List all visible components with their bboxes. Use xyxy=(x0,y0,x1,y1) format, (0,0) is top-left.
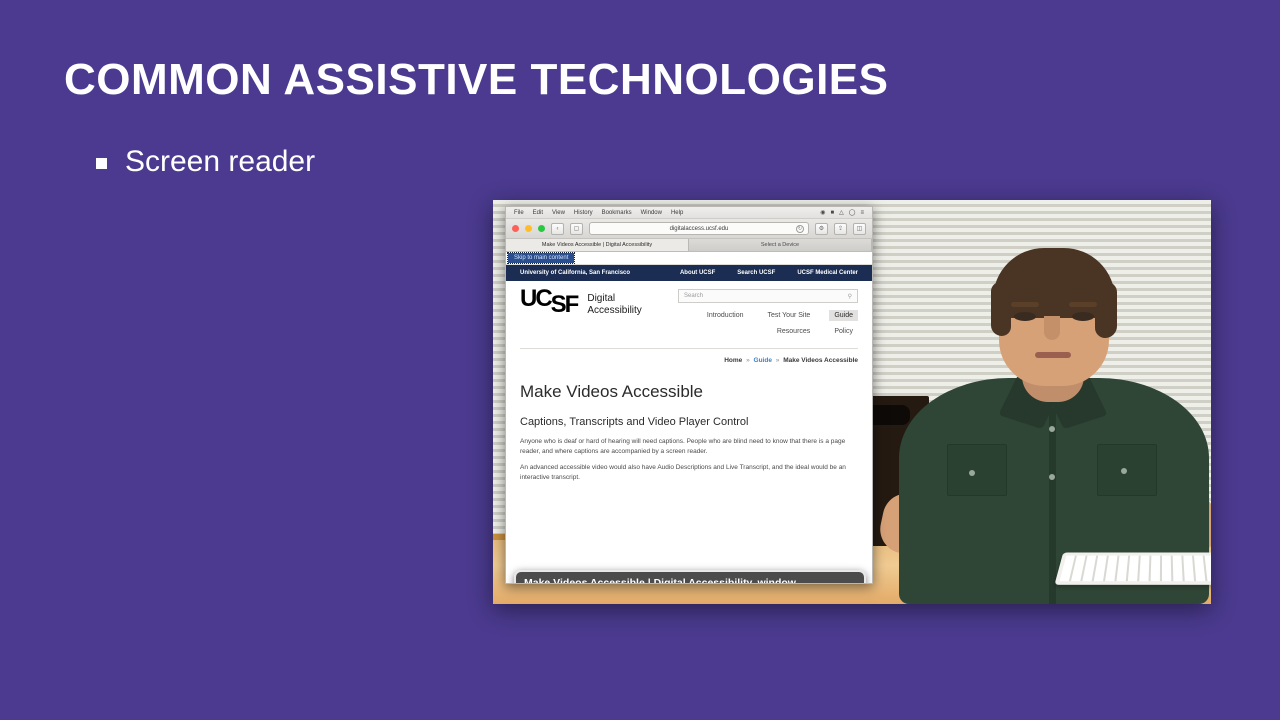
bullet-label: Screen reader xyxy=(125,145,315,179)
bluetooth-icon[interactable]: ◉ xyxy=(820,209,825,216)
nav-item-test-your-site[interactable]: Test Your Site xyxy=(763,310,816,321)
tab-make-videos-accessible[interactable]: Make Videos Accessible | Digital Accessi… xyxy=(506,239,689,251)
spotlight-icon[interactable]: ≡ xyxy=(860,210,864,216)
browser-tab-bar[interactable]: Make Videos Accessible | Digital Accessi… xyxy=(506,239,872,252)
search-input[interactable]: Search ⚲ xyxy=(678,289,858,303)
site-nav-row-2: Resources Policy xyxy=(678,326,858,337)
nose xyxy=(1044,316,1060,340)
breadcrumb-separator-1: » xyxy=(746,357,750,364)
skip-to-main-content-link[interactable]: Skip to main content xyxy=(508,253,574,263)
nav-item-resources[interactable]: Resources xyxy=(772,326,815,337)
menu-item-edit[interactable]: Edit xyxy=(533,210,543,216)
ucsf-logo[interactable]: UCSF xyxy=(520,289,577,309)
shirt-pocket-right xyxy=(1097,444,1157,496)
url-text: digitalaccess.ucsf.edu xyxy=(670,226,729,232)
battery-icon[interactable]: ■ xyxy=(831,210,835,216)
search-placeholder: Search xyxy=(684,293,703,299)
address-bar[interactable]: digitalaccess.ucsf.edu ↻ xyxy=(589,222,809,235)
link-ucsf-medical-center[interactable]: UCSF Medical Center xyxy=(797,270,858,276)
pocket-button-left xyxy=(969,470,975,476)
mouth xyxy=(1035,352,1071,358)
menu-item-view[interactable]: View xyxy=(552,210,565,216)
shirt-button-2 xyxy=(1049,474,1055,480)
site-name-line-2: Accessibility xyxy=(587,305,641,317)
page-subheading: Captions, Transcripts and Video Player C… xyxy=(520,416,810,430)
menu-bar-status-icons: ◉ ■ △ ◯ ≡ xyxy=(820,209,864,216)
keyboard-keys xyxy=(1060,556,1211,581)
browser-toolbar[interactable]: ‹ ▢ digitalaccess.ucsf.edu ↻ ⚙ ⇪ ◫ xyxy=(506,219,872,239)
voiceover-caption-text: Make Videos Accessible | Digital Accessi… xyxy=(524,577,796,584)
menu-item-help[interactable]: Help xyxy=(671,210,683,216)
site-name-line-1: Digital xyxy=(587,293,641,305)
eyebrow-right xyxy=(1069,302,1097,307)
browser-menu-bar[interactable]: File Edit View History Bookmarks Window … xyxy=(506,207,872,219)
gear-icon[interactable]: ⚙ xyxy=(815,223,828,235)
link-search-ucsf[interactable]: Search UCSF xyxy=(737,270,775,276)
list-item: Screen reader xyxy=(96,145,315,179)
page-paragraph-1: Anyone who is deaf or hard of hearing wi… xyxy=(520,437,850,457)
shirt-pocket-left xyxy=(947,444,1007,496)
menu-item-window[interactable]: Window xyxy=(641,210,662,216)
tab-select-a-device[interactable]: Select a Device xyxy=(689,239,872,251)
voiceover-caption-panel: Make Videos Accessible | Digital Accessi… xyxy=(514,570,866,584)
ucsf-global-bar[interactable]: University of California, San Francisco … xyxy=(506,265,872,281)
maximize-window-button[interactable] xyxy=(538,225,545,232)
tabs-icon[interactable]: ◫ xyxy=(853,223,866,235)
hair-top xyxy=(993,248,1115,318)
site-nav-area: Search ⚲ Introduction Test Your Site Gui… xyxy=(678,289,858,342)
sidebar-icon[interactable]: ▢ xyxy=(570,223,583,235)
pocket-button-right xyxy=(1121,468,1127,474)
web-page-body: UCSF Digital Accessibility Search ⚲ Intr… xyxy=(506,281,872,584)
person-figure xyxy=(889,230,1211,604)
nav-item-guide[interactable]: Guide xyxy=(829,310,858,321)
page-paragraph-2: An advanced accessible video would also … xyxy=(520,463,850,483)
site-header: UCSF Digital Accessibility Search ⚲ Intr… xyxy=(520,289,858,342)
page-title: COMMON ASSISTIVE TECHNOLOGIES xyxy=(64,55,888,105)
browser-window[interactable]: File Edit View History Bookmarks Window … xyxy=(505,206,873,584)
ucsf-university-label[interactable]: University of California, San Francisco xyxy=(520,270,630,276)
nav-item-policy[interactable]: Policy xyxy=(829,326,858,337)
link-about-ucsf[interactable]: About UCSF xyxy=(680,270,715,276)
bullet-list: Screen reader xyxy=(96,145,315,179)
menu-item-bookmarks[interactable]: Bookmarks xyxy=(602,210,632,216)
breadcrumb: Home » Guide » Make Videos Accessible xyxy=(520,348,858,364)
embedded-video[interactable]: File Edit View History Bookmarks Window … xyxy=(493,200,1211,604)
back-button[interactable]: ‹ xyxy=(551,223,564,235)
wifi-icon[interactable]: △ xyxy=(839,209,844,216)
shirt-button-1 xyxy=(1049,426,1055,432)
eyebrow-left xyxy=(1011,302,1039,307)
minimize-window-button[interactable] xyxy=(525,225,532,232)
menu-item-history[interactable]: History xyxy=(574,210,593,216)
breadcrumb-separator-2: » xyxy=(776,357,780,364)
eye-left xyxy=(1014,312,1036,321)
search-icon[interactable]: ⚲ xyxy=(848,293,852,300)
ucsf-logo-text: UCSF xyxy=(520,285,577,312)
eye-right xyxy=(1072,312,1094,321)
nav-item-introduction[interactable]: Introduction xyxy=(702,310,749,321)
shirt-placket xyxy=(1049,408,1056,604)
page-heading: Make Videos Accessible xyxy=(520,382,858,402)
close-window-button[interactable] xyxy=(512,225,519,232)
menu-item-file[interactable]: File xyxy=(514,210,524,216)
clock-icon[interactable]: ◯ xyxy=(849,209,856,216)
site-name: Digital Accessibility xyxy=(587,293,641,316)
breadcrumb-home[interactable]: Home xyxy=(724,357,742,364)
skip-link-row: Skip to main content xyxy=(506,252,872,265)
breadcrumb-guide[interactable]: Guide xyxy=(754,357,772,364)
square-bullet-icon xyxy=(96,158,107,169)
site-nav-row-1: Introduction Test Your Site Guide xyxy=(678,310,858,321)
reload-icon[interactable]: ↻ xyxy=(796,225,804,233)
keyboard xyxy=(1054,553,1211,585)
breadcrumb-current: Make Videos Accessible xyxy=(783,357,858,364)
share-icon[interactable]: ⇪ xyxy=(834,223,847,235)
